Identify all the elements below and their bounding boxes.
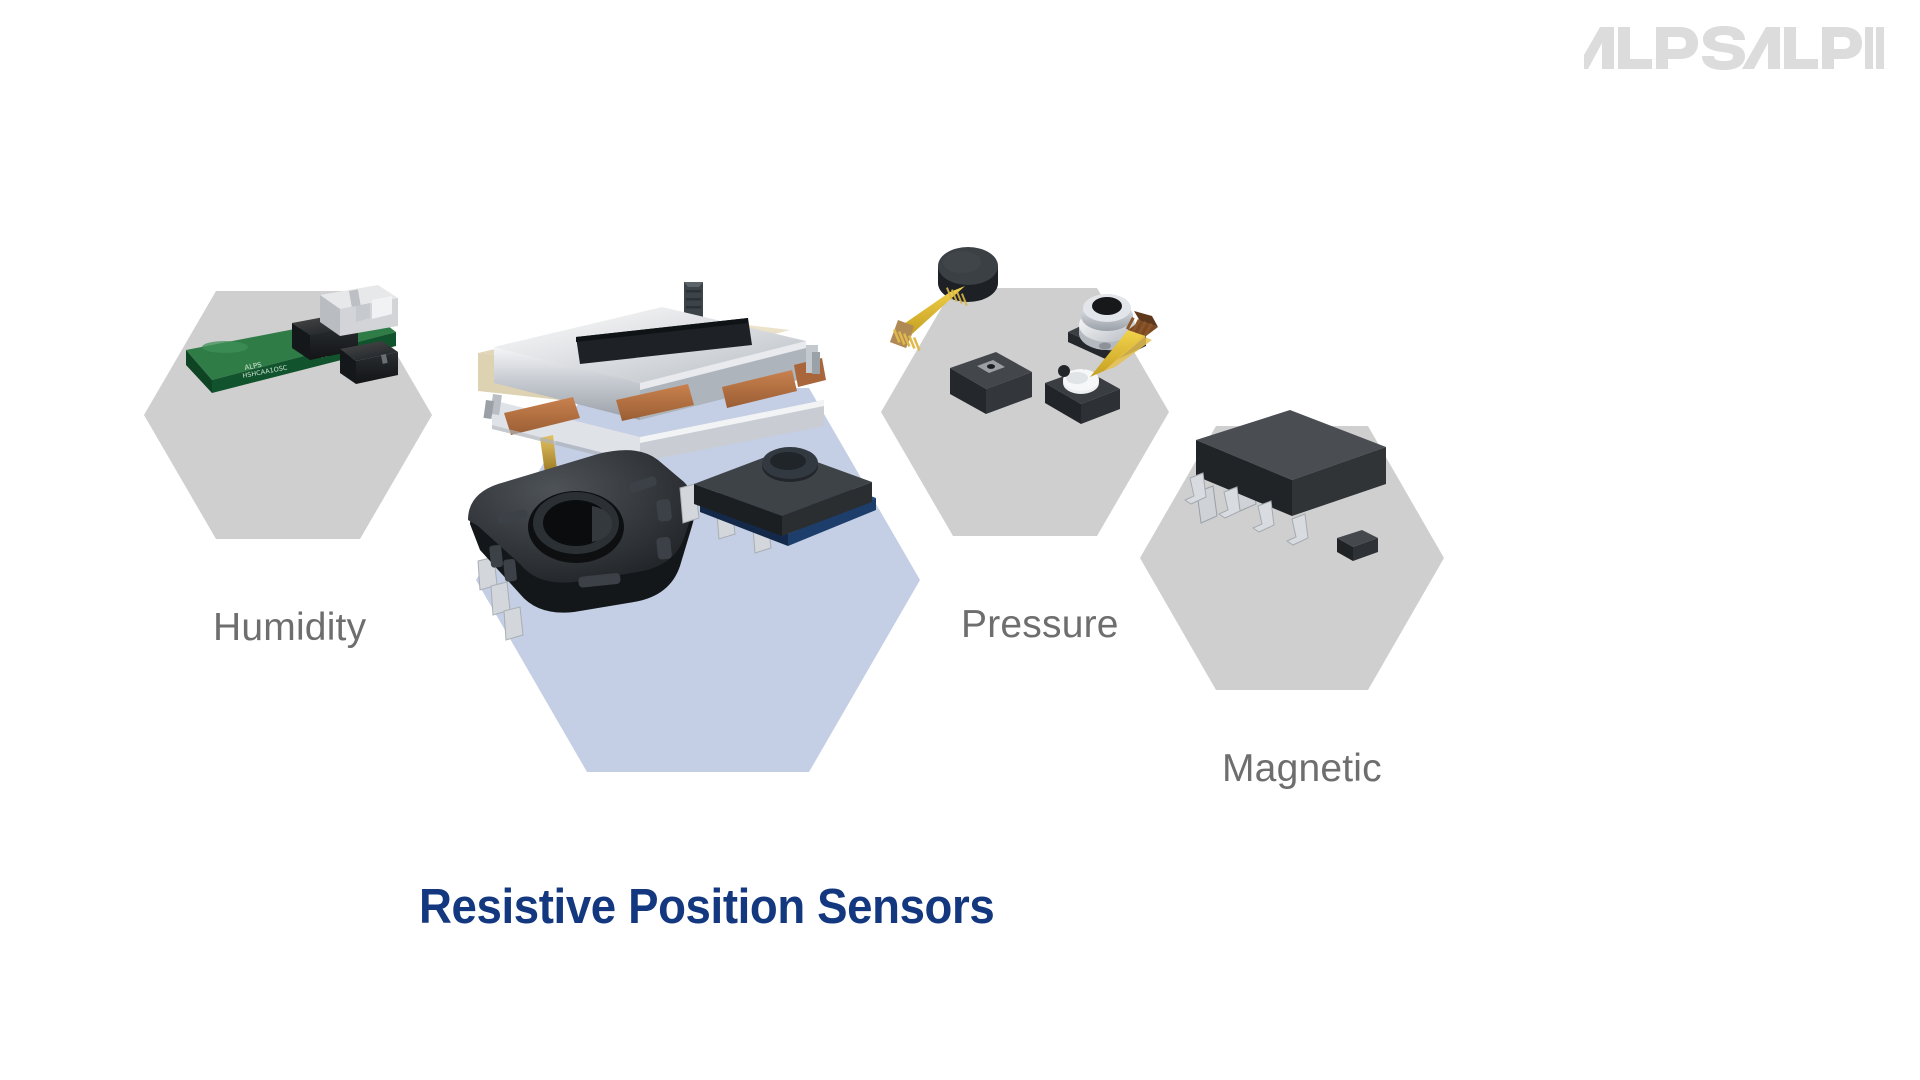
hexagon-label-pressure: Pressure xyxy=(961,603,1119,647)
hexagon-label-humidity: Humidity xyxy=(213,606,366,650)
hexagon-resistive-position[interactable] xyxy=(468,282,920,772)
hexagon-magnetic[interactable] xyxy=(1140,410,1444,690)
hexagon-pressure[interactable] xyxy=(881,247,1169,536)
hexagon-label-magnetic: Magnetic xyxy=(1222,747,1382,791)
page-title: Resistive Position Sensors xyxy=(419,879,994,935)
hexagon-humidity[interactable]: ALPS HSHCAA1OSC U2 xyxy=(144,285,432,539)
